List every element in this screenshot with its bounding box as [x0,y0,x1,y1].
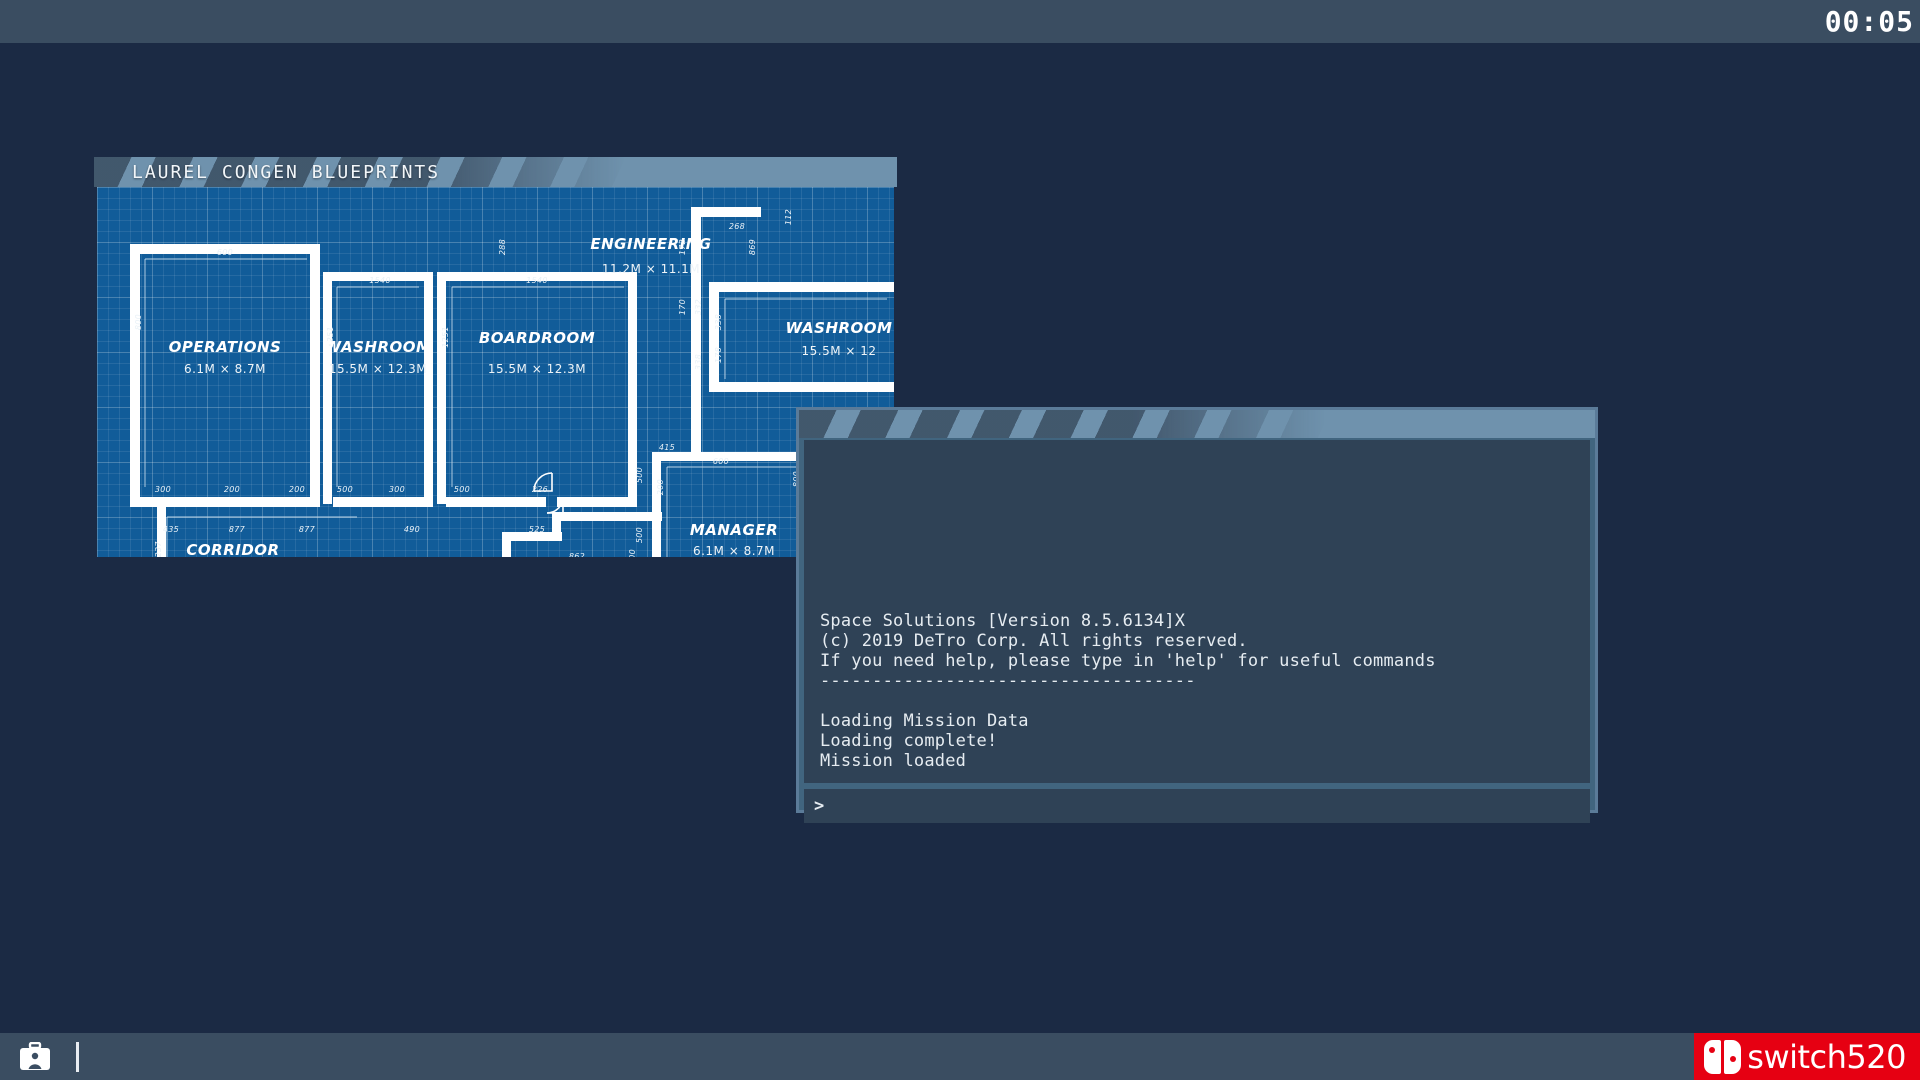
room-dimensions-boardroom: 15.5M × 12.3M [488,362,586,376]
measure-label: 500 [628,549,637,560]
measure-label: 200 [289,485,305,494]
measure-label: 877 [299,525,316,534]
terminal-line: ------------------------------------ [820,671,1574,691]
watermark-text: switch520 [1747,1038,1906,1076]
briefcase-app-icon[interactable] [16,1040,54,1074]
blueprint-canvas[interactable]: 600 800 1540 1251 1540 1251 300 200 200 … [94,187,897,560]
measure-label: 338 [694,354,703,370]
terminal-output[interactable]: Space Solutions [Version 8.5.6134]X (c) … [804,440,1590,783]
joycon-left-icon [1704,1040,1721,1074]
measure-label: 170 [678,299,687,315]
measure-label: 300 [155,485,171,494]
room-label-operations: OPERATIONS [169,338,282,356]
terminal-input-row[interactable]: > [804,789,1590,823]
measure-label: 338 [714,314,723,330]
blueprint-window-title: LAUREL CONGEN BLUEPRINTS [94,162,440,183]
room-label-washroom-right: WASHROOM [786,319,893,337]
terminal-line: If you need help, please type in 'help' … [820,651,1574,671]
watermark-switch520: switch520 [1694,1033,1920,1080]
floorplan-walls [117,207,894,560]
measure-label: 525 [529,525,545,534]
joycon-logo-icon [1704,1040,1741,1074]
measure-label: 877 [229,525,246,534]
measure-label: 869 [748,239,757,255]
room-dimensions-washroom-left: 15.5M × 12.3M [329,362,427,376]
titlebar-stripes-decoration [799,410,1595,438]
terminal-body: Space Solutions [Version 8.5.6134]X (c) … [799,438,1595,783]
clock: 00:05 [1825,5,1914,38]
room-dimensions-operations: 6.1M × 8.7M [184,362,266,376]
measure-label: 600 [217,248,233,257]
taskbar-item-list [0,1040,79,1074]
measure-label: 300 [389,485,405,494]
terminal-line: (c) 2019 DeTro Corp. All rights reserved… [820,631,1574,651]
measure-label: 800 [134,314,143,330]
joycon-right-icon [1724,1040,1741,1074]
room-label-engineering: ENGINEERING [590,235,711,253]
desktop: 00:05 LAUREL CONGEN BLUEPRINTS [0,0,1920,1080]
measure-label: 178 [714,347,723,363]
room-label-manager: MANAGER [690,521,778,539]
measure-label: 435 [163,525,179,534]
terminal-line: Loading Mission Data [820,711,1574,731]
measure-label: 332 [694,299,703,315]
measure-label: 490 [404,525,420,534]
terminal-line: Space Solutions [Version 8.5.6134]X [820,611,1574,631]
measure-label: 500 [337,485,353,494]
measure-label: 1237 [154,541,163,560]
room-dimensions-manager: 6.1M × 8.7M [693,544,775,558]
terminal-window[interactable]: Space Solutions [Version 8.5.6134]X (c) … [796,407,1598,813]
measure-label: 226 [532,485,548,494]
briefcase-icon [18,1042,52,1072]
room-label-corridor: CORRIDOR [186,541,279,559]
measure-label: 112 [784,209,793,225]
terminal-prompt-icon: > [814,796,824,816]
measure-label: 200 [656,479,665,495]
terminal-output-lines: Space Solutions [Version 8.5.6134]X (c) … [820,611,1574,771]
measure-label: 600 [713,457,729,466]
taskbar [0,1033,1920,1080]
measure-label: 500 [454,485,470,494]
terminal-line: Mission loaded [820,751,1574,771]
measure-label: 1540 [369,276,391,285]
measure-label: 200 [224,485,240,494]
measure-label: 415 [659,443,675,452]
terminal-line: Loading complete! [820,731,1574,751]
dimension-lines [145,259,887,560]
measure-label: 500 [635,467,644,483]
blueprint-floorplan: 600 800 1540 1251 1540 1251 300 200 200 … [97,187,894,560]
measure-label: 862 [569,552,585,560]
top-status-bar: 00:05 [0,0,1920,43]
taskbar-divider [76,1042,79,1072]
terminal-titlebar[interactable] [799,410,1595,438]
blueprint-titlebar[interactable]: LAUREL CONGEN BLUEPRINTS [94,157,897,187]
measure-label: 500 [635,527,644,543]
measure-label: 268 [729,222,745,231]
room-dimensions-engineering: 11.2M × 11.1M [602,262,700,276]
room-label-washroom-left: WASHROOM [325,338,432,356]
room-label-boardroom: BOARDROOM [479,329,595,347]
terminal-line [820,691,1574,711]
blueprint-window[interactable]: LAUREL CONGEN BLUEPRINTS [94,157,897,407]
measure-label: 1540 [526,276,548,285]
measure-label: 1251 [441,326,450,348]
room-dimensions-washroom-right: 15.5M × 12 [801,344,876,358]
measure-label: 288 [498,239,507,255]
